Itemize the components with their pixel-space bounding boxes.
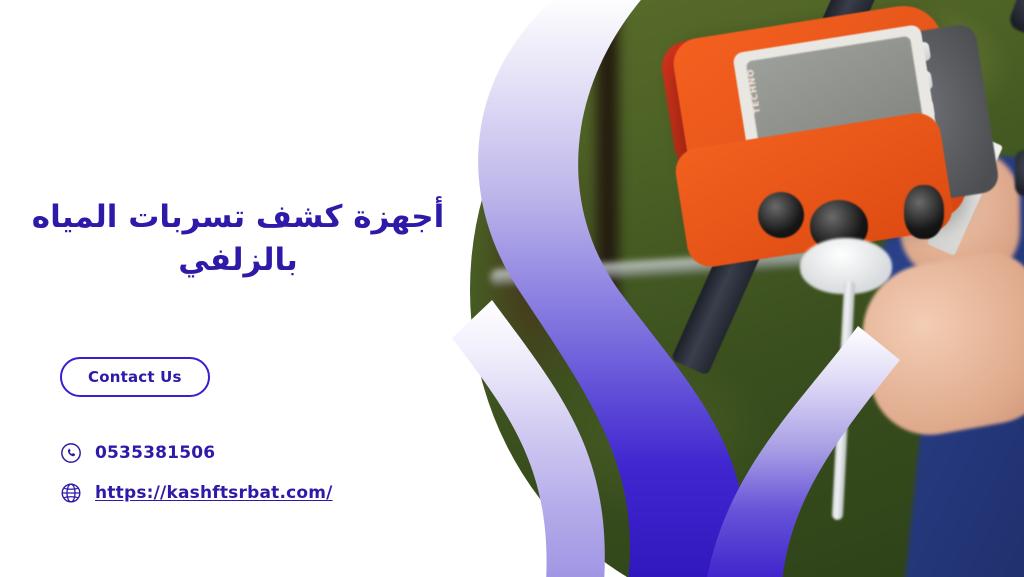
photo-blurred-post	[590, 0, 624, 330]
website-link[interactable]: https://kashftsrbat.com/	[95, 483, 333, 503]
globe-icon	[60, 482, 82, 504]
page-title: أجهزة كشف تسربات المياه بالزلفي	[18, 196, 458, 283]
contact-us-button[interactable]: Contact Us	[60, 357, 210, 397]
promo-banner: VAROTEC 40 TECHNO	[0, 0, 1024, 577]
contact-website-row[interactable]: https://kashftsrbat.com/	[60, 482, 333, 504]
hero-photo: VAROTEC 40 TECHNO	[470, 0, 1024, 577]
photo-device-knob-3	[904, 185, 944, 239]
photo-rod-joint-lower	[1015, 150, 1024, 196]
photo-device-knob-1	[758, 192, 804, 238]
phone-circle-icon	[60, 442, 82, 464]
banner-content: أجهزة كشف تسربات المياه بالزلفي Contact …	[0, 0, 470, 577]
photo-blurred-post-shadow	[475, 80, 595, 410]
contact-phone-row[interactable]: 0535381506	[60, 442, 215, 464]
phone-number: 0535381506	[95, 443, 215, 463]
